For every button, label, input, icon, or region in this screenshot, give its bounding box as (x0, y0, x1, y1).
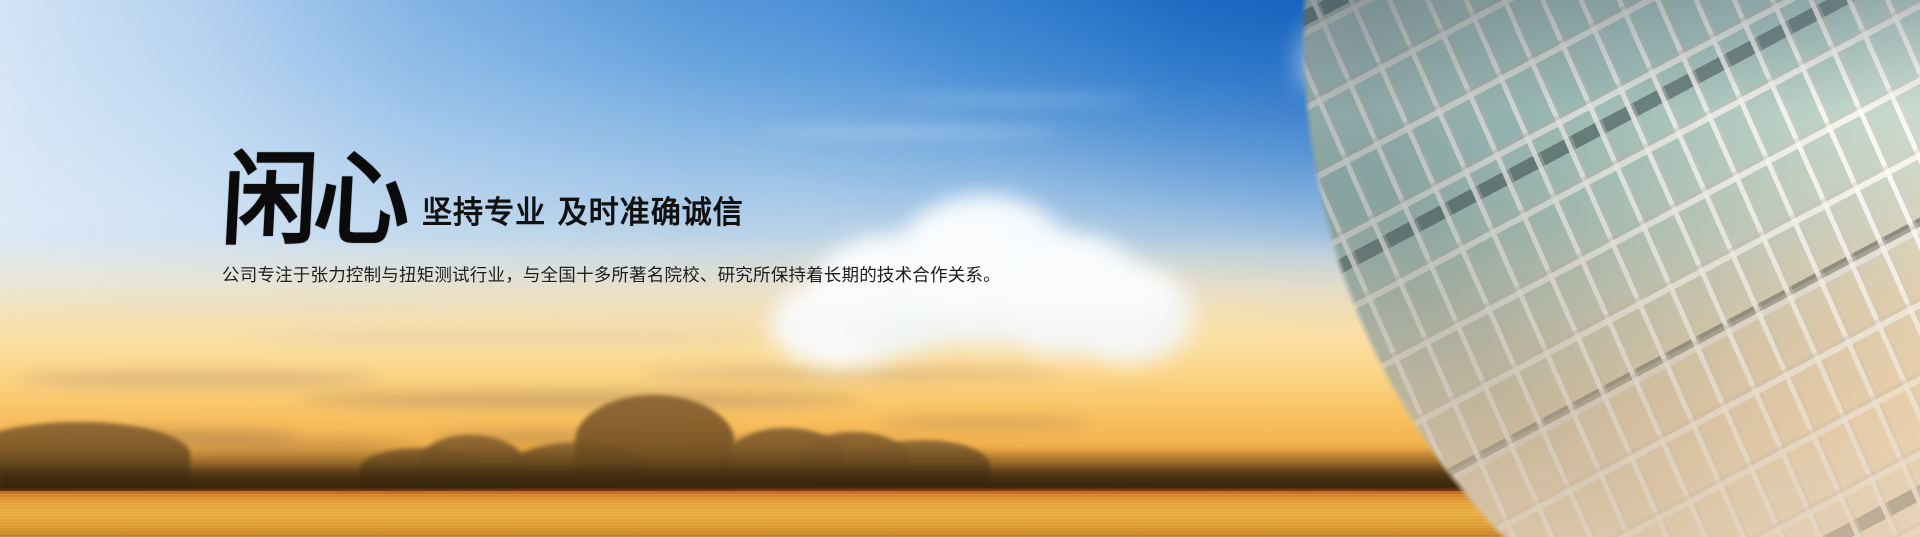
brand-calligraphy-mark: 闲心 (220, 159, 408, 242)
banner-copy: 闲心 坚持专业 及时准确诚信 公司专注于张力控制与扭矩测试行业，与全国十多所著名… (222, 148, 1042, 287)
headline-row: 闲心 坚持专业 及时准确诚信 (222, 148, 1042, 240)
streak-cloud (60, 300, 480, 312)
glass-tower-building (1000, 0, 1920, 537)
banner-description: 公司专注于张力控制与扭矩测试行业，与全国十多所著名院校、研究所保持着长期的技术合… (222, 262, 1042, 287)
banner-slogan: 坚持专业 及时准确诚信 (422, 187, 744, 240)
building-top-shadow (1000, 0, 1920, 110)
hero-banner: 闲心 坚持专业 及时准确诚信 公司专注于张力控制与扭矩测试行业，与全国十多所著名… (0, 0, 1920, 537)
